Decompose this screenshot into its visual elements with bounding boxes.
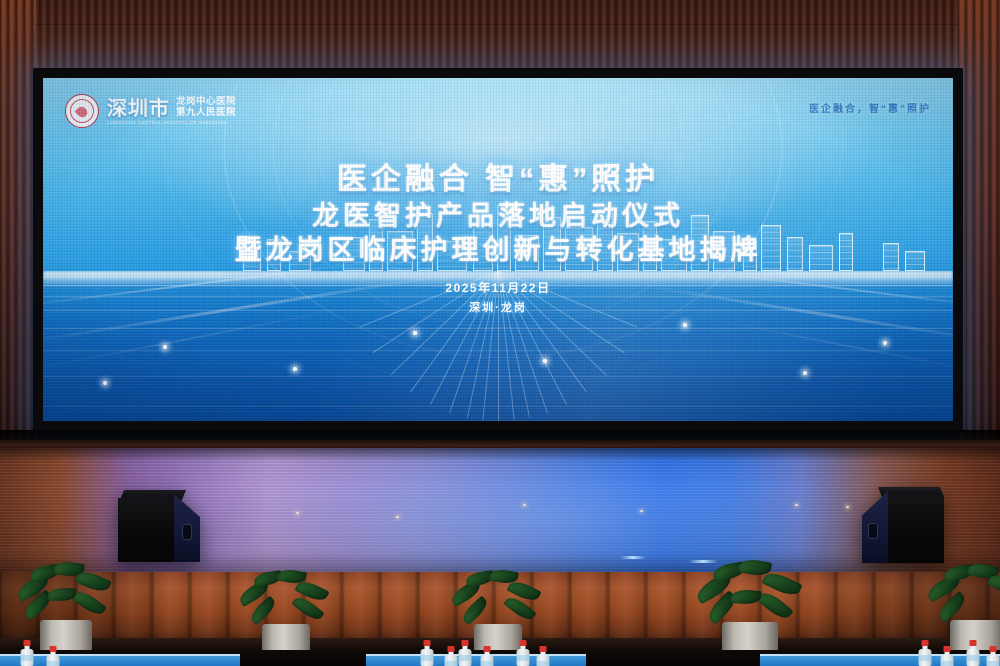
water-bottle	[480, 646, 493, 666]
wall-column-left	[0, 0, 36, 470]
water-bottle	[420, 640, 433, 666]
water-bottle	[536, 646, 549, 666]
water-bottle	[516, 640, 529, 666]
water-bottle	[444, 646, 457, 666]
table-cloth-center	[366, 654, 586, 666]
water-bottle	[940, 646, 953, 666]
water-bottle	[20, 640, 33, 666]
table-cloth-left	[0, 654, 240, 666]
stage-monitor-speaker-left	[118, 490, 206, 562]
potted-plant	[238, 566, 334, 662]
stage-monitor-speaker-right	[862, 487, 954, 563]
wall-seam	[0, 24, 1000, 25]
water-bottle	[986, 646, 999, 666]
led-scanlines	[43, 78, 953, 421]
led-screen: 深圳市 龙岗中心医院 第九人民医院 LONGGANG CENTRAL HOSPI…	[43, 78, 953, 421]
conference-hall-photo: 深圳市 龙岗中心医院 第九人民医院 LONGGANG CENTRAL HOSPI…	[0, 0, 1000, 666]
water-bottle	[46, 646, 59, 666]
wall-column-right	[958, 0, 1000, 470]
table-cloth-right	[760, 654, 1000, 666]
led-screen-frame: 深圳市 龙岗中心医院 第九人民医院 LONGGANG CENTRAL HOSPI…	[33, 68, 963, 431]
water-bottle	[966, 640, 979, 666]
water-bottle	[458, 640, 471, 666]
water-bottle	[918, 640, 931, 666]
